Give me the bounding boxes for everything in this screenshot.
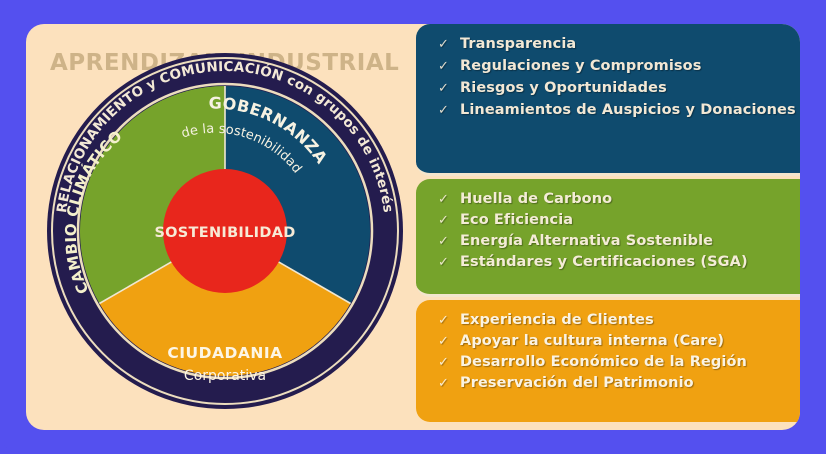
list-item: ✓ Lineamientos de Auspicios y Donaciones [438, 102, 800, 118]
check-icon: ✓ [438, 103, 460, 118]
list-item-label: Desarrollo Económico de la Región [460, 354, 747, 370]
list-item: ✓ Apoyar la cultura interna (Care) [438, 333, 800, 349]
list-item: ✓ Energía Alternativa Sostenible [438, 233, 800, 249]
list-item: ✓ Experiencia de Clientes [438, 312, 800, 328]
sustainability-wheel: RELACIONAMIENTO y COMUNICACIÓN con grupo… [30, 26, 420, 426]
list-item-label: Eco Eficiencia [460, 212, 573, 228]
list-item-label: Regulaciones y Compromisos [460, 58, 701, 74]
list-item-label: Energía Alternativa Sostenible [460, 233, 713, 249]
sustainability-infographic: ✓ Transparencia ✓ Regulaciones y Comprom… [0, 0, 826, 454]
list-item: ✓ Riesgos y Oportunidades [438, 80, 800, 96]
check-icon: ✓ [438, 81, 460, 96]
list-item-label: Apoyar la cultura interna (Care) [460, 333, 724, 349]
cambio-climatico-bullet-list: ✓ Huella de Carbono ✓ Eco Eficiencia ✓ E… [438, 191, 800, 270]
list-item: ✓ Estándares y Certificaciones (SGA) [438, 254, 800, 270]
list-item-label: Transparencia [460, 36, 576, 52]
cambio-climatico-panel: ✓ Huella de Carbono ✓ Eco Eficiencia ✓ E… [416, 179, 800, 297]
list-item: ✓ Transparencia [438, 36, 800, 52]
list-item-label: Estándares y Certificaciones (SGA) [460, 254, 748, 270]
check-icon: ✓ [438, 234, 460, 249]
check-icon: ✓ [438, 213, 460, 228]
list-item: ✓ Preservación del Patrimonio [438, 375, 800, 391]
list-item: ✓ Eco Eficiencia [438, 212, 800, 228]
gobernanza-bullet-list: ✓ Transparencia ✓ Regulaciones y Comprom… [438, 36, 800, 118]
check-icon: ✓ [438, 355, 460, 370]
list-item: ✓ Regulaciones y Compromisos [438, 58, 800, 74]
check-icon: ✓ [438, 192, 460, 207]
list-item: ✓ Desarrollo Económico de la Región [438, 354, 800, 370]
segment-label-ciudadania: CIUDADANIA [167, 344, 282, 362]
infographic-canvas: ✓ Transparencia ✓ Regulaciones y Comprom… [26, 24, 800, 430]
check-icon: ✓ [438, 334, 460, 349]
list-item-label: Riesgos y Oportunidades [460, 80, 667, 96]
ciudadania-panel: ✓ Experiencia de Clientes ✓ Apoyar la cu… [416, 300, 800, 422]
check-icon: ✓ [438, 313, 460, 328]
segment-sublabel-ciudadania: Corporativa [184, 368, 266, 384]
check-icon: ✓ [438, 37, 460, 52]
check-icon: ✓ [438, 59, 460, 74]
check-icon: ✓ [438, 255, 460, 270]
check-icon: ✓ [438, 376, 460, 391]
center-label: SOSTENIBILIDAD [154, 225, 295, 241]
list-item-label: Lineamientos de Auspicios y Donaciones [460, 102, 796, 118]
list-item: ✓ Huella de Carbono [438, 191, 800, 207]
list-item-label: Huella de Carbono [460, 191, 612, 207]
list-item-label: Experiencia de Clientes [460, 312, 654, 328]
gobernanza-panel: ✓ Transparencia ✓ Regulaciones y Comprom… [416, 24, 800, 176]
list-item-label: Preservación del Patrimonio [460, 375, 694, 391]
ciudadania-bullet-list: ✓ Experiencia de Clientes ✓ Apoyar la cu… [438, 312, 800, 391]
